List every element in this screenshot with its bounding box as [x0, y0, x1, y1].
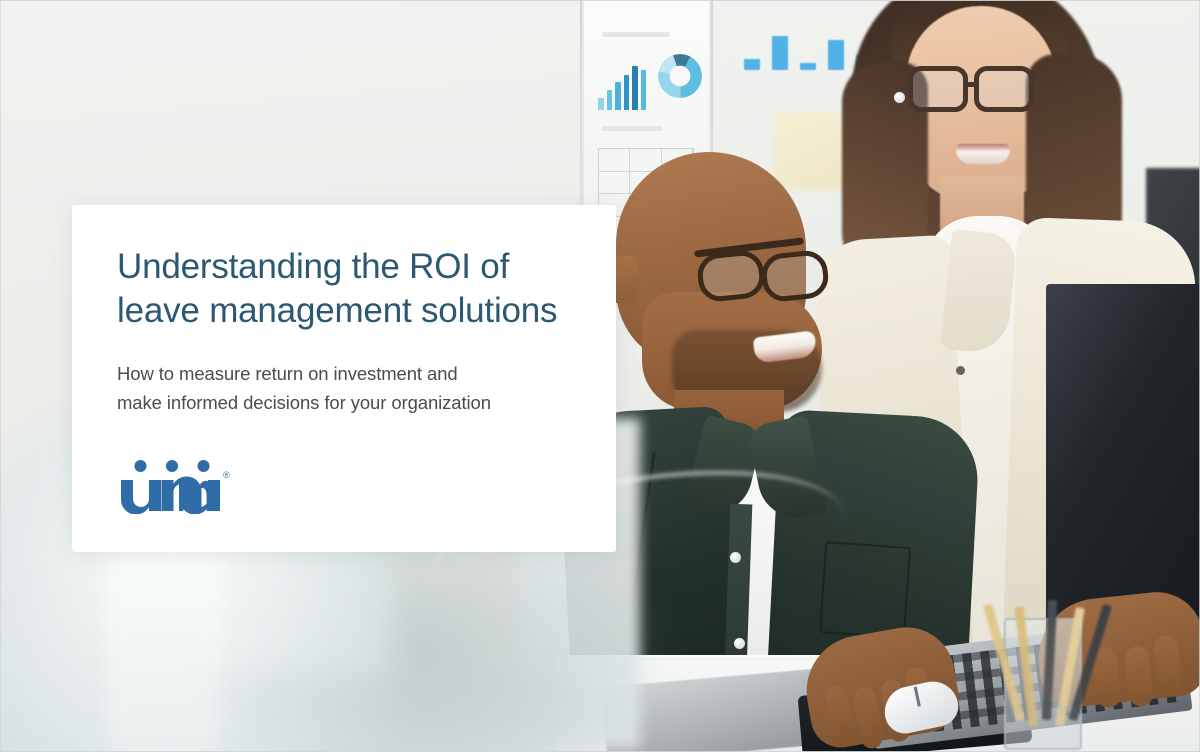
poster-bar — [598, 98, 604, 110]
frame-border-left — [0, 0, 1, 752]
woman-earring — [894, 92, 905, 103]
poster-bar — [641, 70, 647, 110]
woman-glasses-left-lens — [908, 66, 968, 112]
poster-bar — [632, 66, 638, 110]
unum-logo[interactable]: ® — [117, 458, 297, 520]
poster-bar — [624, 75, 630, 110]
poster-subheading-bar — [602, 126, 662, 131]
man-shirt-button — [734, 638, 745, 649]
foreground-chair-blur — [200, 676, 640, 752]
page-title: Understanding the ROI of leave managemen… — [117, 245, 580, 333]
poster-heading-bar — [602, 32, 670, 37]
wall-bar — [800, 63, 816, 70]
ebook-cover-canvas: Understanding the ROI of leave managemen… — [0, 0, 1200, 752]
mouse-button-divider — [914, 686, 921, 706]
unum-wordmark-icon — [117, 458, 237, 514]
poster-bar — [615, 82, 621, 110]
poster-bar-chart — [598, 60, 646, 110]
man-shirt-pocket — [819, 541, 911, 639]
wall-bar — [744, 59, 760, 70]
man-glasses-right-lens — [760, 249, 831, 304]
primary-monitor — [1046, 284, 1200, 638]
poster-bar — [607, 90, 613, 110]
woman-glasses-bridge — [966, 82, 978, 87]
cover-text-block: Understanding the ROI of leave managemen… — [117, 245, 580, 417]
page-subtitle: How to measure return on investment and … — [117, 359, 580, 417]
woman-glasses-right-lens — [974, 66, 1034, 112]
frame-border-top — [0, 0, 1200, 1]
registered-trademark-symbol: ® — [223, 470, 230, 480]
poster-donut-chart — [658, 54, 702, 98]
wall-bar — [772, 36, 788, 70]
cover-content-card: Understanding the ROI of leave managemen… — [72, 205, 616, 552]
